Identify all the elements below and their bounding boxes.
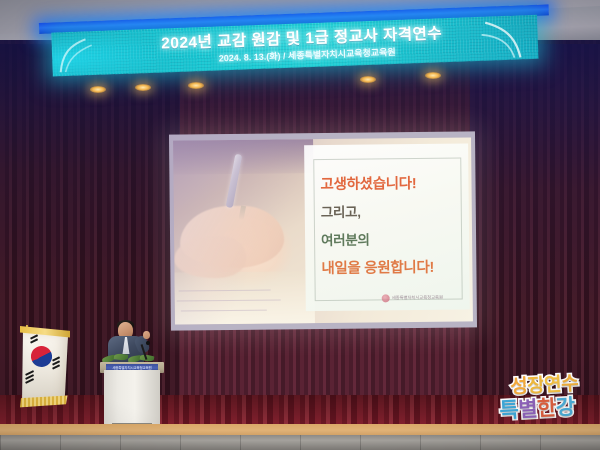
slide-photo-handwriting (173, 139, 315, 324)
cutout-logo-char: 특 (499, 394, 519, 425)
cutout-logo-bottom-line: 특별한 강 (499, 391, 576, 425)
decorative-swoosh-left-icon (55, 37, 100, 75)
microphone-icon (146, 341, 150, 345)
auditorium-stage-photo: 고생하셨습니다! 그리고, 여러분의 내일을 응원합니다! 세종특별자치시교육청… (0, 0, 600, 450)
cutout-logo-char: 한 (536, 392, 556, 423)
photo-desk-surface (174, 271, 315, 324)
ceiling-downlight (425, 72, 441, 79)
ceiling-downlight (188, 82, 204, 89)
speaker-hand (143, 331, 150, 339)
slide-line-2: 그리고, (321, 201, 361, 221)
stage-curtain-right (470, 44, 600, 404)
slide-line-3: 여러분의 (321, 229, 370, 250)
institute-logo-icon (382, 294, 390, 302)
podium (104, 370, 160, 425)
ceiling-downlight (90, 86, 106, 93)
stage-front-edge-panels (0, 435, 600, 450)
slide-logo: 세종특별자치시교육청교육원 (382, 294, 443, 303)
podium-sign-text: 세종특별자치시교육청교육원 (108, 365, 156, 370)
ceiling-downlight (135, 84, 151, 91)
photo-hand-lower (174, 236, 246, 279)
korean-flag (22, 332, 68, 404)
cutout-logo-char: 강 (555, 391, 575, 422)
slide-logo-text: 세종특별자치시교육청교육원 (392, 295, 443, 302)
ceiling-downlight (360, 76, 376, 83)
leaf-icon (114, 353, 129, 360)
decorative-swoosh-right-icon (479, 17, 533, 61)
slide-text-card: 고생하셨습니다! 그리고, 여러분의 내일을 응원합니다! 세종특별자치시교육청… (304, 143, 470, 311)
projection-screen: 고생하셨습니다! 그리고, 여러분의 내일을 응원합니다! 세종특별자치시교육청… (169, 131, 477, 330)
photo-background-blur (173, 139, 313, 174)
slide-line-4: 내일을 응원합니다! (321, 256, 434, 278)
slide-line-1: 고생하셨습니다! (320, 172, 416, 194)
event-cutout-logo: 성장연수 특별한 강 (495, 365, 600, 432)
presentation-slide: 고생하셨습니다! 그리고, 여러분의 내일을 응원합니다! 세종특별자치시교육청… (173, 137, 473, 324)
cutout-logo-char: 별 (518, 393, 538, 424)
